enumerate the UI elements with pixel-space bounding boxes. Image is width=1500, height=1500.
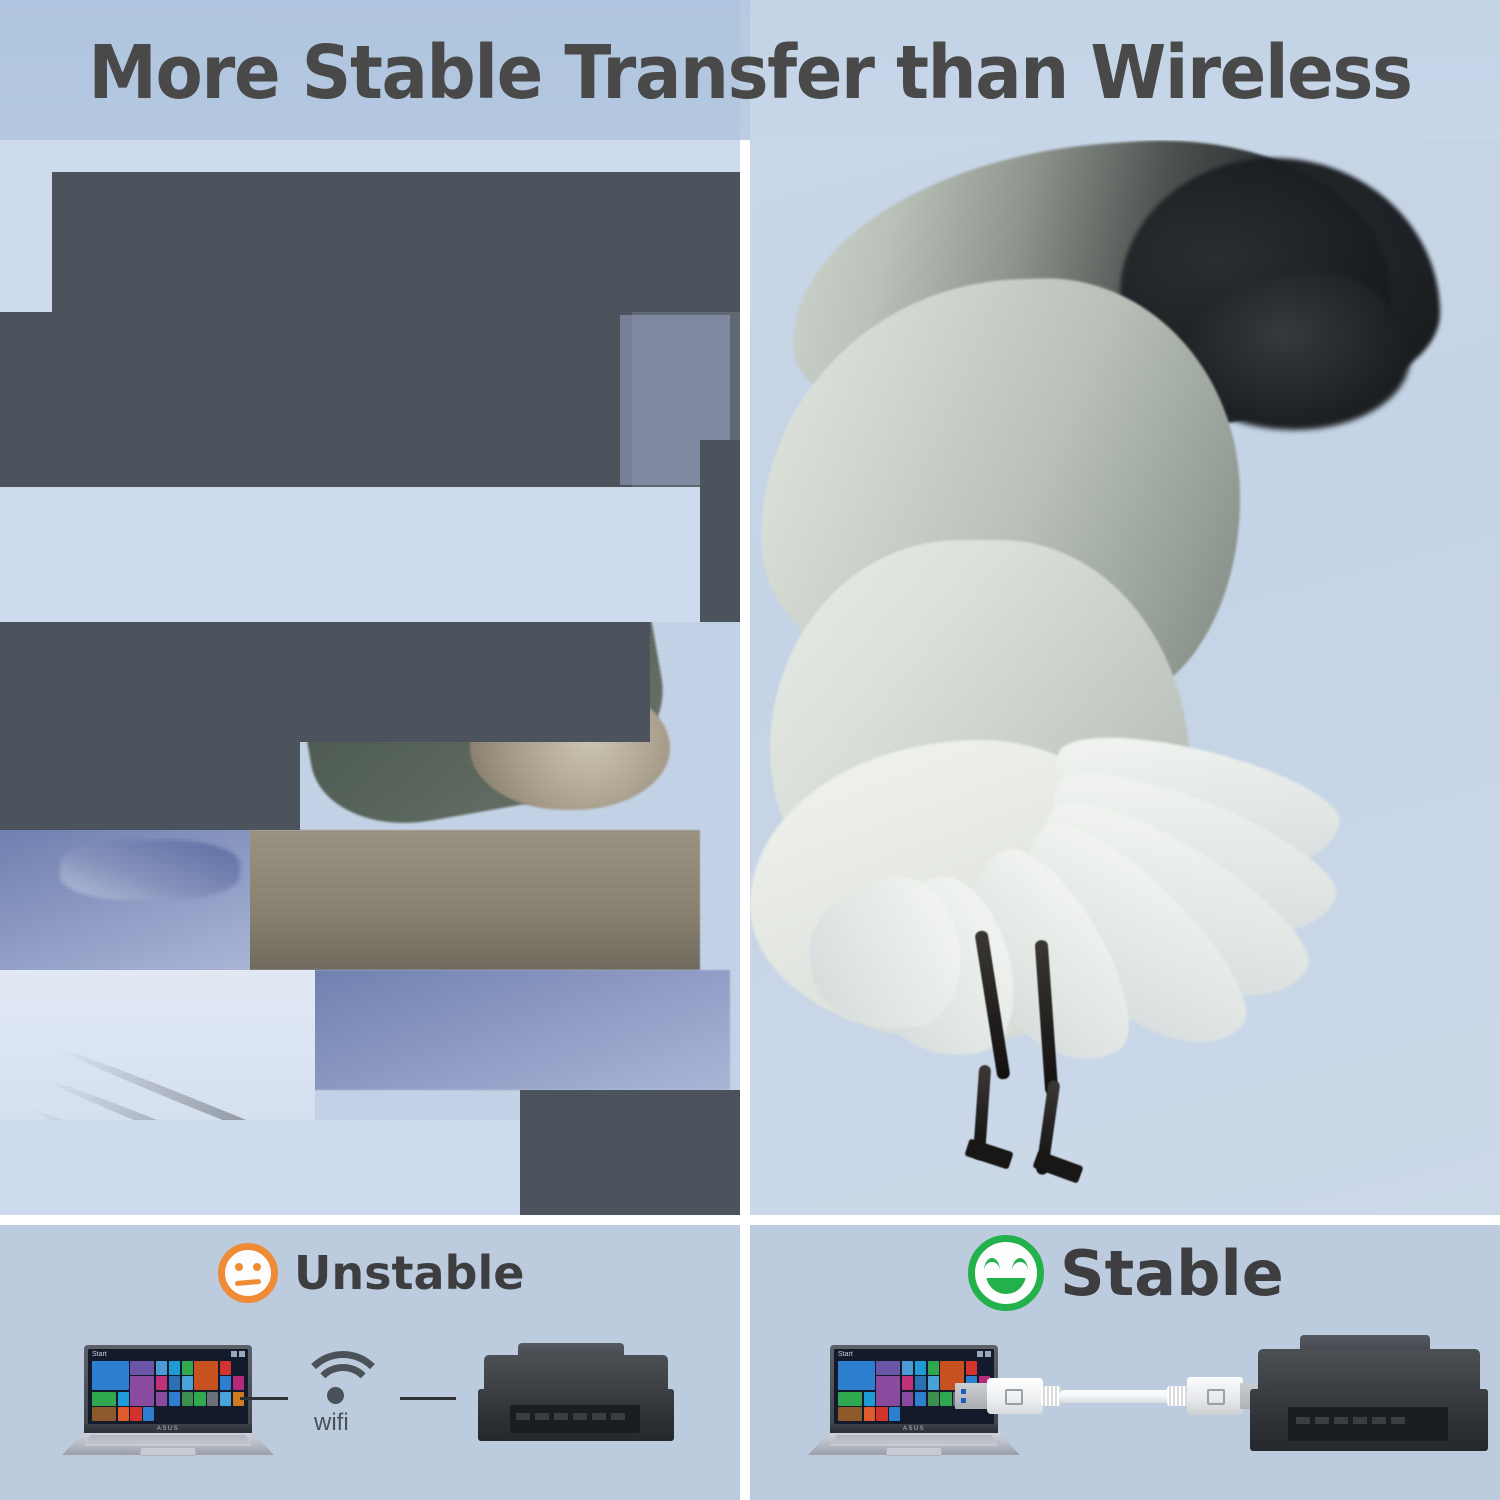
bird-photo — [750, 140, 1500, 1215]
win8-tile — [966, 1361, 977, 1375]
face-eye-right — [1012, 1258, 1028, 1271]
win8-tile — [928, 1361, 939, 1375]
win8-tile — [876, 1361, 900, 1375]
usb-cable-body — [1059, 1390, 1171, 1403]
printer-scanner-top — [1258, 1349, 1480, 1393]
glitch-photo-panel — [0, 140, 740, 1215]
tray-icons — [977, 1351, 991, 1357]
laptop-brand-label: ASUS — [157, 1426, 179, 1432]
win8-tile — [928, 1392, 939, 1406]
win8-tile — [940, 1392, 951, 1406]
usb-a-connector — [955, 1383, 991, 1409]
win8-tile-grid — [92, 1361, 244, 1421]
status-label-unstable: Unstable — [294, 1246, 524, 1300]
face-mouth — [235, 1279, 261, 1286]
connection-dash-right — [400, 1397, 456, 1400]
bird-foot-right — [1032, 1150, 1083, 1183]
win8-tile — [118, 1392, 129, 1406]
infographic-page: More Stable Transfer than Wireless — [0, 0, 1500, 1500]
win8-tile — [902, 1376, 913, 1390]
win8-tile — [169, 1361, 180, 1375]
win8-tile — [156, 1376, 167, 1390]
usb-b-connector — [1187, 1377, 1243, 1415]
win8-tile — [915, 1392, 926, 1406]
start-label: Start — [838, 1351, 853, 1358]
printer-scanner-top — [484, 1355, 668, 1393]
win8-tile — [220, 1376, 231, 1390]
win8-tile — [92, 1361, 129, 1390]
win8-tile — [156, 1392, 167, 1406]
laptop-brand-label: ASUS — [903, 1426, 925, 1432]
usb-a-contact — [961, 1398, 966, 1403]
win8-tile — [915, 1361, 926, 1375]
usb-logo-icon — [1005, 1389, 1023, 1405]
win8-tile — [194, 1361, 218, 1390]
printer-usb — [1250, 1335, 1488, 1465]
win8-tile — [864, 1392, 875, 1406]
win8-tile — [838, 1392, 862, 1406]
win8-tile — [182, 1376, 193, 1390]
win8-tile — [143, 1407, 154, 1421]
printer-tray-slots — [516, 1413, 625, 1420]
win8-tile — [130, 1376, 154, 1405]
win8-tile — [156, 1361, 167, 1375]
win8-tile — [194, 1392, 205, 1406]
win8-tile — [220, 1392, 231, 1406]
usb-logo-icon — [1207, 1389, 1225, 1405]
win8-tile — [182, 1361, 193, 1375]
usb-strain-relief-left — [1041, 1386, 1061, 1406]
win8-tile — [169, 1392, 180, 1406]
printer-tray-slots — [1296, 1417, 1405, 1424]
win8-tile — [902, 1392, 913, 1406]
stable-status-row: Stable — [968, 1235, 1284, 1311]
win8-tile — [838, 1361, 875, 1390]
win8-tile — [838, 1407, 862, 1421]
asus-laptop-wireless: Start ASUS — [62, 1345, 274, 1455]
win8-tile — [928, 1376, 939, 1390]
win8-tile — [169, 1376, 180, 1390]
printer-wireless — [478, 1343, 674, 1455]
face-eye-right — [253, 1263, 261, 1271]
printer-output-tray — [1288, 1407, 1448, 1441]
title-banner: More Stable Transfer than Wireless — [0, 0, 1500, 140]
glitch-noise-overlay — [0, 140, 740, 1215]
smiling-face-icon — [968, 1235, 1044, 1311]
win8-tile — [864, 1407, 875, 1421]
usb-cable-icon — [955, 1375, 1255, 1421]
unstable-status-row: Unstable — [218, 1243, 524, 1303]
laptop-brand-bar: ASUS — [84, 1424, 252, 1433]
laptop-lid: Start ASUS — [84, 1345, 252, 1433]
win8-tile — [182, 1392, 193, 1406]
bird-foot-left — [964, 1138, 1013, 1169]
face-mouth — [986, 1274, 1026, 1294]
neutral-face-icon — [218, 1243, 278, 1303]
unstable-comparison-panel: Unstable Start ASUS wif — [0, 1225, 740, 1500]
win8-tile — [207, 1392, 218, 1406]
usb-strain-relief-right — [1167, 1386, 1189, 1406]
status-label-stable: Stable — [1060, 1237, 1284, 1310]
win8-tile — [92, 1407, 116, 1421]
start-label: Start — [92, 1351, 107, 1358]
face-eye-left — [984, 1258, 1000, 1271]
page-title: More Stable Transfer than Wireless — [53, 30, 1448, 116]
face-eye-left — [235, 1263, 243, 1271]
connection-dash-left — [240, 1397, 288, 1400]
stable-comparison-panel: Stable Start ASUS — [750, 1225, 1500, 1500]
laptop-screen: Start — [88, 1349, 248, 1424]
win8-tile — [92, 1392, 116, 1406]
laptop-trackpad — [140, 1447, 196, 1456]
win8-tile — [130, 1407, 141, 1421]
usb-a-contact — [961, 1389, 966, 1394]
tray-icons — [231, 1351, 245, 1357]
win8-tile — [876, 1407, 887, 1421]
laptop-keyboard — [830, 1435, 998, 1446]
win8-tile — [130, 1361, 154, 1375]
laptop-trackpad — [886, 1447, 942, 1456]
win8-tile — [915, 1376, 926, 1390]
win8-tile — [118, 1407, 129, 1421]
win8-tile — [902, 1361, 913, 1375]
wifi-icon: wifi — [288, 1345, 398, 1450]
win8-tile — [876, 1376, 900, 1405]
win8-tile — [220, 1361, 231, 1375]
win8-tile — [889, 1407, 900, 1421]
clean-photo-panel — [750, 140, 1500, 1215]
laptop-keyboard — [84, 1435, 252, 1446]
win8-tile — [233, 1376, 244, 1390]
wifi-dot — [327, 1387, 344, 1404]
laptop-brand-bar: ASUS — [830, 1424, 998, 1433]
wifi-label: wifi — [314, 1409, 349, 1437]
usb-a-shell — [987, 1378, 1043, 1414]
